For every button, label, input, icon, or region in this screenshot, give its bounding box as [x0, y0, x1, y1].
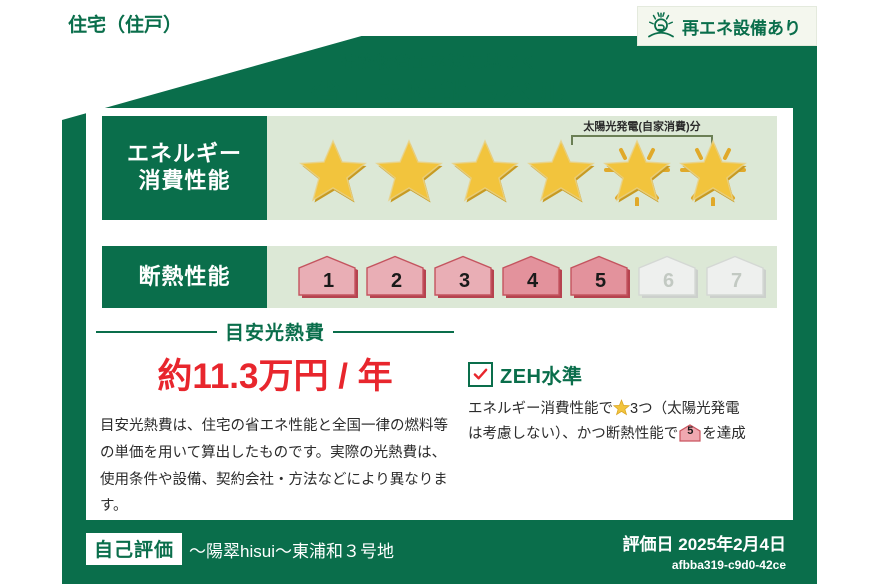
insulation-level-house: 6 — [637, 255, 700, 299]
energy-label-line2: 消費性能 — [138, 168, 230, 195]
insulation-level-number: 3 — [459, 270, 470, 299]
insulation-level-number: 1 — [323, 270, 334, 299]
inline-star-icon — [613, 399, 630, 416]
insulation-level-house: 5 — [569, 255, 632, 299]
energy-star — [601, 136, 673, 206]
energy-star — [525, 136, 597, 206]
insulation-level-scale: 1234567 — [267, 255, 768, 299]
insulation-level-house: 1 — [297, 255, 360, 299]
energy-star-rating — [267, 136, 749, 206]
zeh-desc-part2: は考慮しない）、かつ断熱性能で — [468, 426, 678, 442]
energy-label-card: 住宅（住戸） 再エネ設備あり 建築物省エネ法に基づく 省エネ性能ラベル エネルギ… — [0, 0, 878, 584]
zeh-description: エネルギー消費性能で3つ（太陽光発電は考慮しない）、かつ断熱性能で5を達成 — [468, 397, 780, 448]
insulation-level-house: 4 — [501, 255, 564, 299]
zeh-desc-part3: を達成 — [702, 426, 746, 442]
insulation-performance-label: 断熱性能 — [102, 246, 267, 308]
heading-rule-right — [333, 331, 454, 333]
zeh-title: ZEH水準 — [500, 360, 583, 389]
evaluation-date-block: 評価日 2025年2月4日 afbba319-c9d0-42ce — [623, 530, 786, 572]
inline-house-level: 5 — [678, 424, 702, 442]
energy-star — [297, 136, 369, 206]
zeh-desc-star-count: 3つ（太陽光発電 — [630, 401, 740, 417]
insulation-level-number: 5 — [595, 270, 606, 299]
zeh-standard-block: ZEH水準 エネルギー消費性能で3つ（太陽光発電は考慮しない）、かつ断熱性能で5… — [468, 360, 780, 448]
utility-cost-heading: 目安光熱費 — [96, 318, 454, 345]
insulation-level-number: 4 — [527, 270, 538, 299]
solar-annotation-text: 太陽光発電(自家消費)分 — [567, 118, 717, 134]
utility-cost-heading-text: 目安光熱費 — [225, 318, 325, 345]
utility-cost-note: 目安光熱費は、住宅の省エネ性能と全国一律の燃料等の単価を用いて算出したものです。… — [100, 413, 456, 520]
zeh-desc-part1: エネルギー消費性能で — [468, 401, 613, 417]
insulation-level-number: 2 — [391, 270, 402, 299]
insulation-level-house: 7 — [705, 255, 768, 299]
insulation-level-number: 7 — [731, 270, 742, 299]
insulation-rating-body: 1234567 — [267, 246, 777, 308]
energy-performance-row: エネルギー 消費性能 太陽光発電(自家消費)分 — [102, 116, 777, 220]
zeh-checkbox — [468, 362, 493, 387]
self-evaluation-badge: 自己評価 — [86, 533, 182, 565]
house-type-tab: 住宅（住戸） — [62, 0, 188, 46]
check-icon — [473, 367, 488, 382]
evaluation-date: 評価日 2025年2月4日 — [623, 530, 786, 555]
label-id: afbba319-c9d0-42ce — [623, 558, 786, 572]
energy-performance-label: エネルギー 消費性能 — [102, 116, 267, 220]
insulation-performance-row: 断熱性能 1234567 — [102, 246, 777, 308]
energy-star — [373, 136, 445, 206]
property-name: 〜陽翠hisui〜東浦和３号地 — [189, 537, 394, 562]
insulation-level-number: 6 — [663, 270, 674, 299]
inline-house-icon: 5 — [678, 424, 702, 442]
heading-rule-left — [96, 331, 217, 333]
renewable-equipment-badge: 再エネ設備あり — [637, 6, 817, 46]
sun-renewable-icon — [646, 11, 676, 41]
energy-star — [677, 136, 749, 206]
zeh-heading: ZEH水準 — [468, 360, 780, 389]
label-title: 省エネ性能ラベル — [0, 70, 878, 114]
insulation-level-house: 2 — [365, 255, 428, 299]
energy-label-line1: エネルギー — [127, 141, 242, 168]
insulation-label-text: 断熱性能 — [138, 264, 230, 291]
utility-cost-value: 約11.3万円 / 年 — [96, 348, 454, 399]
renewable-badge-label: 再エネ設備あり — [682, 14, 801, 39]
energy-rating-body: 太陽光発電(自家消費)分 — [267, 116, 777, 220]
house-type-label: 住宅（住戸） — [68, 10, 182, 37]
evaluation-footer: 自己評価 〜陽翠hisui〜東浦和３号地 — [86, 534, 394, 564]
insulation-level-house: 3 — [433, 255, 496, 299]
energy-star — [449, 136, 521, 206]
